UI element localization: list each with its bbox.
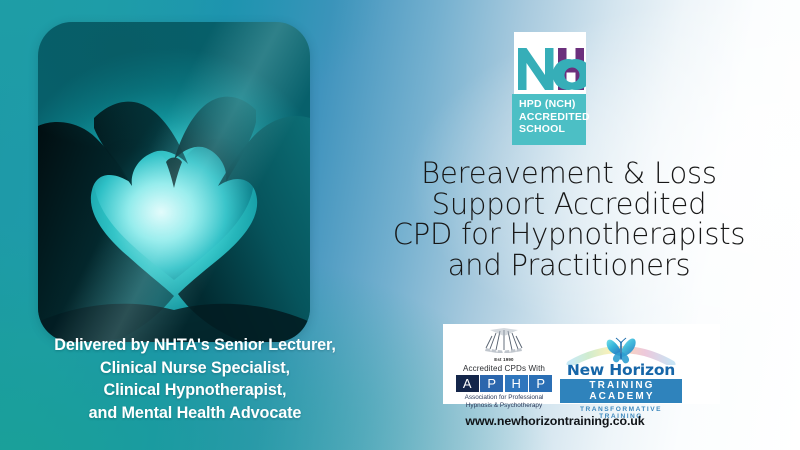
- aphp-letter-boxes: A P H P: [450, 375, 558, 392]
- heart-hands-photo: [38, 22, 310, 342]
- aphp-logo: Est 1990 Accredited CPDs With A P H P As…: [450, 326, 558, 402]
- nch-logo-band-text: HPD (NCH) ACCREDITED SCHOOL: [519, 98, 589, 136]
- aphp-accredited-label: Accredited CPDs With: [450, 364, 558, 373]
- promotional-slide: HPD (NCH) ACCREDITED SCHOOL Bereavement …: [0, 0, 800, 450]
- new-horizon-bar: TRAINING ACADEMY: [560, 379, 682, 403]
- aphp-est-label: Est 1990: [450, 357, 558, 362]
- aphp-letter-a: A: [456, 375, 479, 392]
- aphp-letter-p1: P: [480, 375, 503, 392]
- nch-band-line-3: SCHOOL: [519, 123, 589, 136]
- website-url: www.newhorizontraining.co.uk: [430, 414, 680, 428]
- aphp-subtitle: Association for Professional Hypnosis & …: [450, 394, 558, 410]
- nch-accredited-school-logo: HPD (NCH) ACCREDITED SCHOOL: [512, 32, 586, 145]
- new-horizon-emblem: [560, 333, 682, 363]
- photo-light-overlay: [38, 22, 310, 342]
- page-title: Bereavement & Loss Support Accredited CP…: [340, 158, 798, 280]
- nch-band-line-1: HPD (NCH): [519, 98, 589, 111]
- nch-band-line-2: ACCREDITED: [519, 111, 589, 124]
- aphp-letter-p2: P: [529, 375, 552, 392]
- new-horizon-training-academy-logo: New Horizon TRAINING ACADEMY TRANSFORMAT…: [560, 333, 682, 399]
- rainbow-butterfly-icon: [560, 333, 682, 365]
- delivered-by-text: Delivered by NHTA's Senior Lecturer, Cli…: [20, 334, 370, 424]
- aphp-letter-h: H: [505, 375, 528, 392]
- aphp-fan-emblem-icon: [450, 327, 558, 353]
